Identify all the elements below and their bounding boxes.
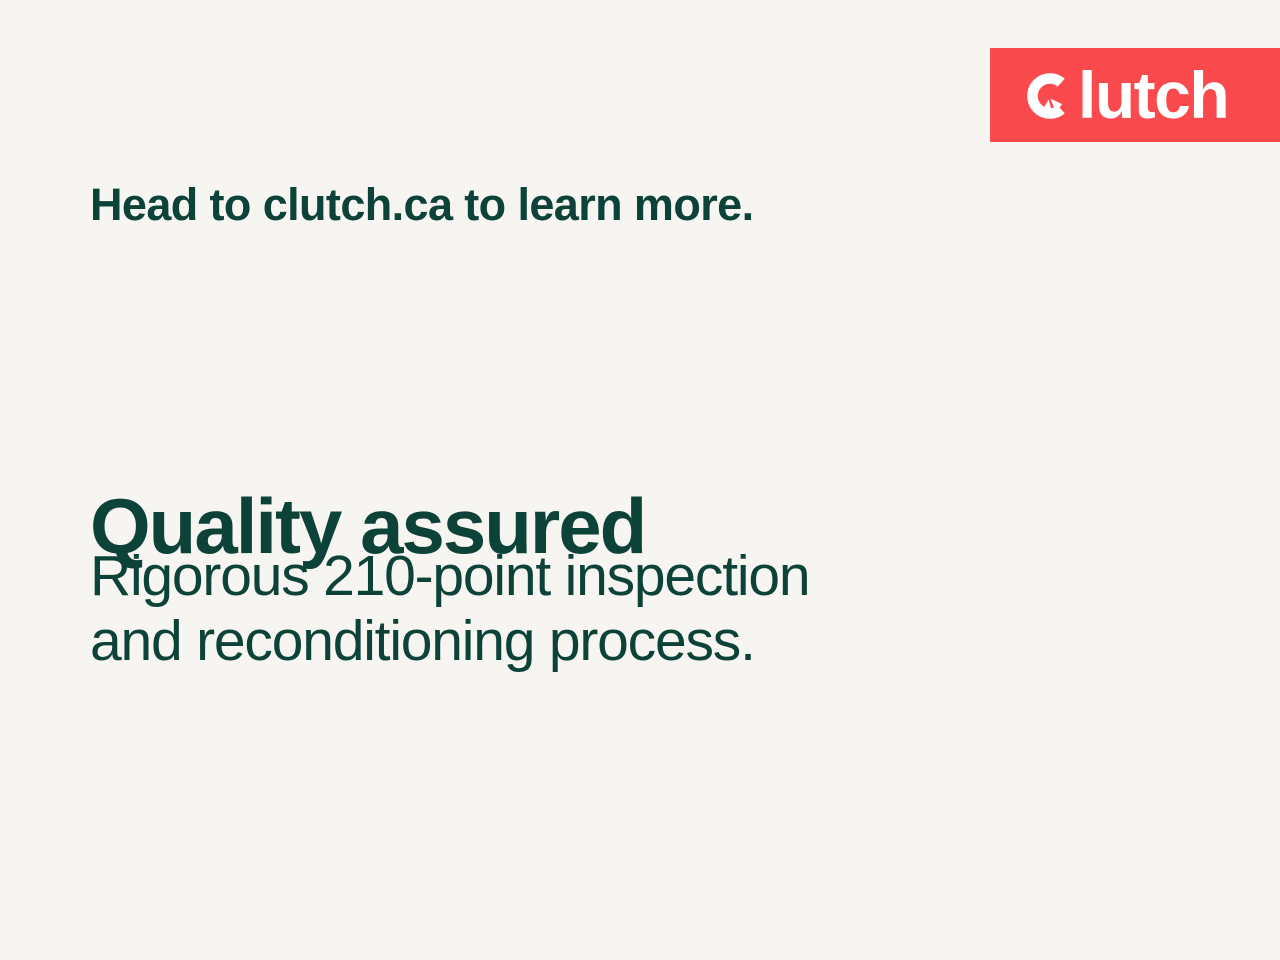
subcopy-line-2: and reconditioning process. (90, 609, 809, 674)
subcopy-line-1: Rigorous 210-point inspection (90, 544, 809, 609)
clutch-brand-badge[interactable]: lutch (990, 48, 1280, 142)
promo-slide: lutch Head to clutch.ca to learn more. Q… (0, 0, 1280, 960)
clutch-c-mark-icon (1024, 70, 1076, 122)
clutch-logo-lockup: lutch (1024, 68, 1228, 122)
clutch-wordmark: lutch (1078, 68, 1228, 122)
subcopy-block: Rigorous 210-point inspection and recond… (90, 544, 809, 674)
kicker-text: Head to clutch.ca to learn more. (90, 180, 753, 230)
